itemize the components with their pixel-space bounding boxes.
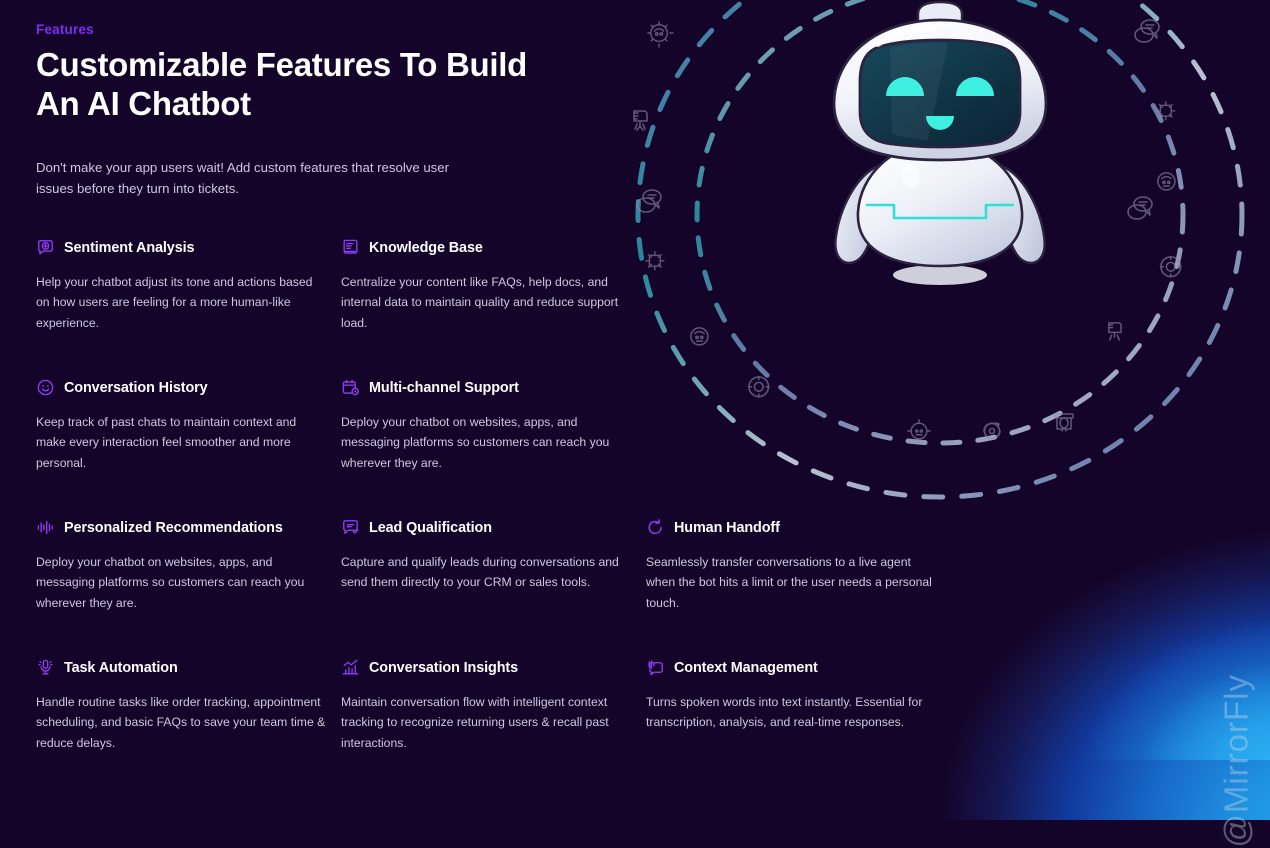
mirrorfly-watermark: @MirrorFly bbox=[1218, 674, 1256, 848]
feature-card-title: Human Handoff bbox=[674, 520, 780, 536]
feature-card-description: Keep track of past chats to maintain con… bbox=[36, 412, 326, 474]
feature-card-multi-channel-support[interactable]: Multi-channel Support Deploy your chatbo… bbox=[341, 378, 641, 518]
feature-card-conversation-insights[interactable]: Conversation Insights Maintain conversat… bbox=[341, 658, 641, 798]
feature-card-header: Conversation Insights bbox=[341, 658, 641, 678]
feature-card-description: Turns spoken words into text instantly. … bbox=[646, 692, 936, 733]
feature-card-header: Task Automation bbox=[36, 658, 336, 678]
feature-card-header: Conversation History bbox=[36, 378, 336, 398]
page-title-line-2: An AI Chatbot bbox=[36, 85, 251, 122]
feature-card-header: Human Handoff bbox=[646, 518, 946, 538]
feature-card-description: Centralize your content like FAQs, help … bbox=[341, 272, 631, 334]
feature-card-description: Help your chatbot adjust its tone and ac… bbox=[36, 272, 326, 334]
feature-card-knowledge-base[interactable]: Knowledge Base Centralize your content l… bbox=[341, 238, 641, 378]
chat-bubble-plus-icon bbox=[36, 238, 55, 257]
feature-card-description: Seamlessly transfer conversations to a l… bbox=[646, 552, 936, 614]
features-section: Features Customizable Features To Build … bbox=[0, 0, 960, 798]
chat-check-icon bbox=[341, 518, 360, 537]
feature-card-description: Deploy your chatbot on websites, apps, a… bbox=[36, 552, 326, 614]
section-eyebrow-label: Features bbox=[36, 22, 960, 37]
refresh-rotate-icon bbox=[646, 518, 665, 537]
page-title: Customizable Features To Build An AI Cha… bbox=[36, 46, 596, 124]
feature-card-title: Context Management bbox=[674, 660, 818, 676]
feature-card-title: Multi-channel Support bbox=[369, 380, 519, 396]
feature-card-title: Lead Qualification bbox=[369, 520, 492, 536]
voice-message-icon bbox=[646, 658, 665, 677]
feature-card-description: Handle routine tasks like order tracking… bbox=[36, 692, 326, 754]
feature-card-header: Personalized Recommendations bbox=[36, 518, 336, 538]
audio-waveform-icon bbox=[36, 518, 55, 537]
feature-card-header: Multi-channel Support bbox=[341, 378, 641, 398]
page-title-line-1: Customizable Features To Build bbox=[36, 46, 527, 83]
features-grid: Sentiment Analysis Help your chatbot adj… bbox=[36, 238, 960, 798]
bar-chart-trend-icon bbox=[341, 658, 360, 677]
feature-card-title: Personalized Recommendations bbox=[64, 520, 283, 536]
feature-card-title: Sentiment Analysis bbox=[64, 240, 194, 256]
feature-card-title: Task Automation bbox=[64, 660, 178, 676]
knowledge-book-icon bbox=[341, 238, 360, 257]
feature-card-header: Lead Qualification bbox=[341, 518, 641, 538]
feature-card-human-handoff[interactable]: Human Handoff Seamlessly transfer conver… bbox=[646, 518, 946, 658]
feature-card-context-management[interactable]: Context Management Turns spoken words in… bbox=[646, 658, 946, 798]
feature-card-header: Knowledge Base bbox=[341, 238, 641, 258]
feature-card-lead-qualification[interactable]: Lead Qualification Capture and qualify l… bbox=[341, 518, 641, 658]
feature-card-header: Context Management bbox=[646, 658, 946, 678]
feature-card-title: Conversation Insights bbox=[369, 660, 518, 676]
feature-card-title: Knowledge Base bbox=[369, 240, 483, 256]
feature-card-conversation-history[interactable]: Conversation History Keep track of past … bbox=[36, 378, 336, 518]
feature-card-header: Sentiment Analysis bbox=[36, 238, 336, 258]
feature-card-description: Deploy your chatbot on websites, apps, a… bbox=[341, 412, 631, 474]
feature-card-task-automation[interactable]: Task Automation Handle routine tasks lik… bbox=[36, 658, 336, 798]
feature-card-personalized-recommendations[interactable]: Personalized Recommendations Deploy your… bbox=[36, 518, 336, 658]
section-subtitle: Don't make your app users wait! Add cust… bbox=[36, 157, 466, 200]
feature-card-title: Conversation History bbox=[64, 380, 208, 396]
smiley-face-icon bbox=[36, 378, 55, 397]
feature-card-description: Capture and qualify leads during convers… bbox=[341, 552, 631, 593]
feature-card-description: Maintain conversation flow with intellig… bbox=[341, 692, 631, 754]
feature-card-sentiment-analysis[interactable]: Sentiment Analysis Help your chatbot adj… bbox=[36, 238, 336, 378]
calendar-clock-icon bbox=[341, 378, 360, 397]
microphone-icon bbox=[36, 658, 55, 677]
